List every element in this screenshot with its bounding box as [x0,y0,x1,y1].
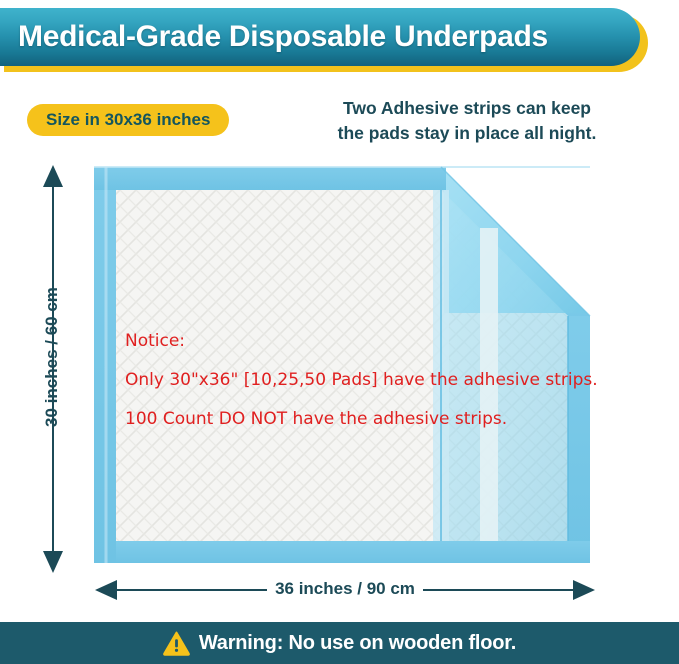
warning-triangle-icon [163,631,190,656]
page-title: Medical-Grade Disposable Underpads [0,20,548,54]
adhesive-note: Two Adhesive strips can keep the pads st… [292,96,642,147]
warning-text: Warning: No use on wooden floor. [199,632,516,655]
notice-title: Notice: [125,333,670,350]
dimension-horizontal: 36 inches / 90 cm [95,575,595,609]
adhesive-note-line-2: the pads stay in place all night. [292,121,642,146]
dimension-horizontal-text: 36 inches / 90 cm [267,579,423,598]
header-banner-body: Medical-Grade Disposable Underpads [0,8,640,66]
size-badge: Size in 30x36 inches [27,104,229,136]
header-banner: Medical-Grade Disposable Underpads [0,8,648,70]
notice-line-1: Only 30"x36" [10,25,50 Pads] have the ad… [125,372,670,389]
dimension-horizontal-label: 36 inches / 90 cm [95,579,595,599]
notice-line-2: 100 Count DO NOT have the adhesive strip… [125,411,670,428]
notice-block: Notice: Only 30"x36" [10,25,50 Pads] hav… [125,333,670,428]
warning-bar: Warning: No use on wooden floor. [0,622,679,664]
adhesive-note-line-1: Two Adhesive strips can keep [292,96,642,121]
dimension-vertical-label: 30 inches / 60 cm [42,227,62,487]
dimension-vertical: 30 inches / 60 cm [30,165,76,573]
infographic-page: Medical-Grade Disposable Underpads Size … [0,0,679,664]
size-badge-label: Size in 30x36 inches [46,110,210,130]
